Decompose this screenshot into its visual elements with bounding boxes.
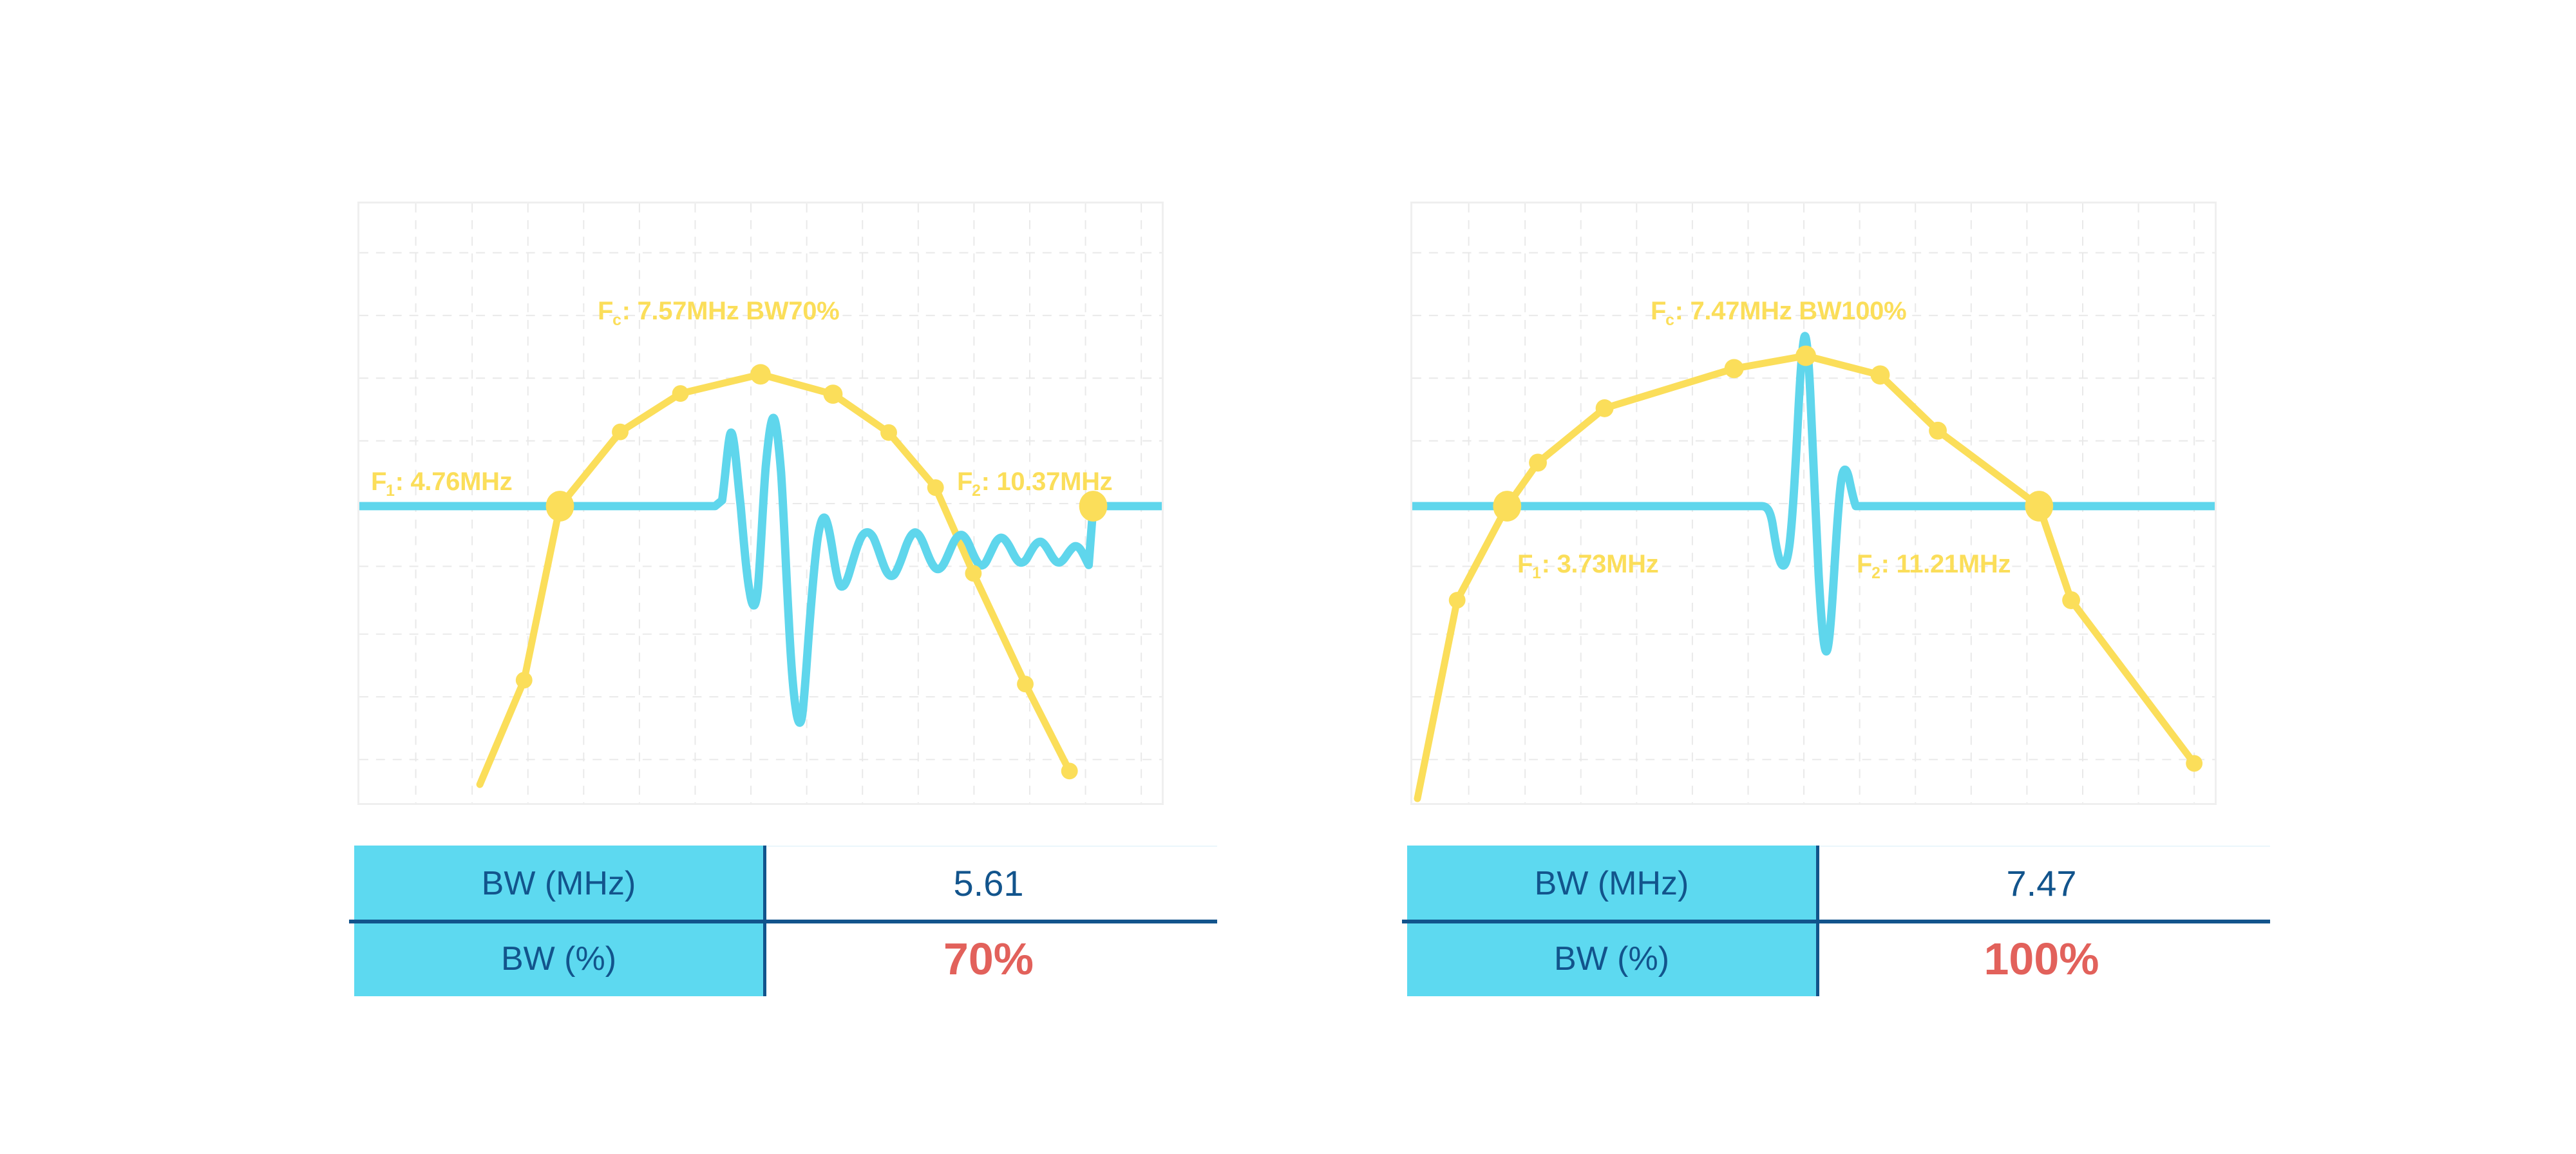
figure-canvas: Fc: 7.57MHz BW70% F1: 4.76MHz F2: 10.37M… [0, 0, 2576, 1154]
table-top-rule-left [766, 846, 1217, 847]
waveform-curve-left [359, 418, 1162, 723]
row-value-cell-bw-percent-right: 100% [1819, 921, 2264, 996]
results-table-left: BW (MHz) 5.61 BW (%) 70% [354, 846, 1211, 996]
table-row: BW (MHz) 7.47 [1407, 846, 2264, 921]
table-row: BW (MHz) 5.61 [354, 846, 1211, 921]
plot-area-left [359, 203, 1162, 803]
row-label-bw-mhz-right: BW (MHz) [1407, 846, 1819, 921]
bandwidth-chart-right: Fc: 7.47MHz BW100% F1: 3.73MHz F2: 11.21… [1410, 202, 2217, 805]
plot-area-right [1412, 203, 2215, 803]
f2-frequency-label-left: F2: 10.37MHz [957, 469, 1112, 495]
bandwidth-chart-left: Fc: 7.57MHz BW70% F1: 4.76MHz F2: 10.37M… [357, 202, 1164, 805]
row-label-bw-mhz-left: BW (MHz) [354, 846, 766, 921]
row-value-cell-bw-mhz-left: 5.61 [766, 846, 1211, 921]
plot-svg-left [359, 203, 1162, 803]
bw-percent-value-left: 70% [943, 933, 1034, 985]
table-row: BW (%) 70% [354, 921, 1211, 996]
table-mid-rule-right [1402, 920, 2270, 923]
center-frequency-label-right: Fc: 7.47MHz BW100% [1651, 298, 1906, 324]
f1-frequency-label-right: F1: 3.73MHz [1517, 551, 1658, 577]
bw-mhz-value-left: 5.61 [954, 862, 1024, 904]
row-label-bw-percent-right: BW (%) [1407, 921, 1819, 996]
row-value-cell-bw-mhz-right: 7.47 [1819, 846, 2264, 921]
center-frequency-label-left: Fc: 7.57MHz BW70% [598, 298, 839, 324]
results-table-right: BW (MHz) 7.47 BW (%) 100% [1407, 846, 2264, 996]
table-top-rule-right [1819, 846, 2270, 847]
waveform-curve-right [1412, 336, 2215, 652]
measurement-block-left: Fc: 7.57MHz BW70% F1: 4.76MHz F2: 10.37M… [316, 0, 1410, 1154]
bw-mhz-value-right: 7.47 [2007, 862, 2077, 904]
f2-frequency-label-right: F2: 11.21MHz [1857, 551, 2011, 577]
table-row: BW (%) 100% [1407, 921, 2264, 996]
plot-svg-right [1412, 203, 2215, 803]
row-value-cell-bw-percent-left: 70% [766, 921, 1211, 996]
measurement-block-right: Fc: 7.47MHz BW100% F1: 3.73MHz F2: 11.21… [1368, 0, 2463, 1154]
f1-frequency-label-left: F1: 4.76MHz [371, 469, 512, 495]
table-mid-rule-left [349, 920, 1217, 923]
row-label-bw-percent-left: BW (%) [354, 921, 766, 996]
bw-percent-value-right: 100% [1984, 933, 2099, 985]
